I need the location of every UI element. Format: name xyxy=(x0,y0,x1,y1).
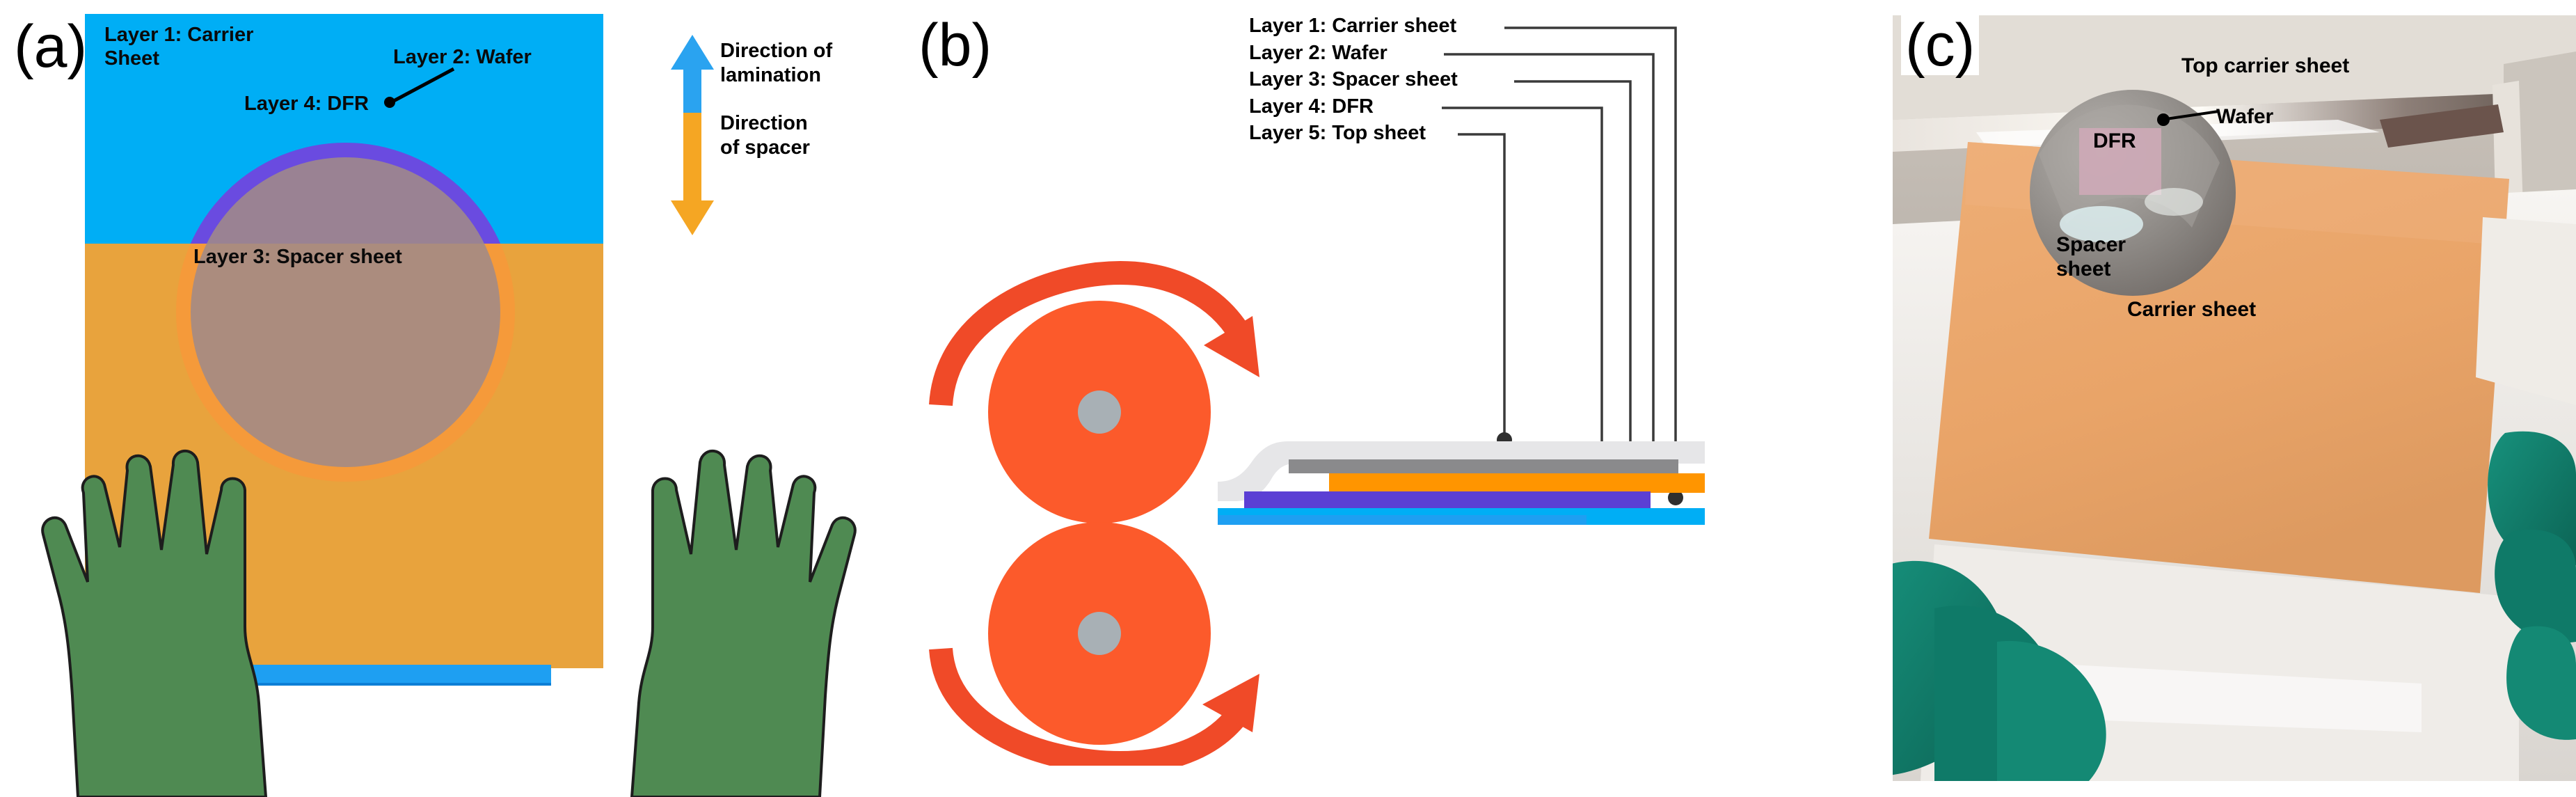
laminator-photograph: Top carrier sheet Wafer DFR Spacer sheet… xyxy=(1893,15,2576,781)
label-dfr-photo: DFR xyxy=(2093,129,2136,153)
wafer-layer xyxy=(1289,459,1678,473)
wafer-leader-dot xyxy=(384,97,395,108)
label-layer4-dfr: Layer 4: DFR xyxy=(244,92,369,116)
carrier-sheet-shadow xyxy=(1218,515,1587,525)
panel-b-illustration: Layer 1: Carrier sheet Layer 2: Wafer La… xyxy=(898,0,1893,797)
label-wafer-photo: Wafer xyxy=(2216,104,2273,129)
bottom-roller-hub xyxy=(1078,612,1121,655)
dfr-layer xyxy=(1244,491,1651,510)
gloved-hands xyxy=(0,418,898,797)
panel-a-illustration: Layer 1: Carrier Sheet Layer 2: Wafer La… xyxy=(0,0,898,797)
panel-b: (b) Layer 1: Carrier sheet Layer 2: Wafe… xyxy=(898,0,1893,797)
photo-content xyxy=(1893,15,2576,781)
label-top-carrier-sheet: Top carrier sheet xyxy=(2181,54,2349,78)
spacer-direction-arrow-icon xyxy=(668,111,717,237)
layer-stack xyxy=(1218,418,1705,529)
label-layer3-spacer-sheet: Layer 3: Spacer sheet xyxy=(193,245,402,269)
label-layer1-carrier-sheet: Layer 1: Carrier Sheet xyxy=(104,23,253,70)
lamination-direction-label: Direction of lamination xyxy=(720,39,832,88)
top-roller-hub xyxy=(1078,390,1121,434)
panel-c: (c) xyxy=(1893,0,2576,797)
panel-c-letter: (c) xyxy=(1901,15,1979,75)
label-spacer-sheet-photo: Spacer sheet xyxy=(2056,232,2126,282)
spacer-direction-label: Direction of spacer xyxy=(720,111,810,161)
spacer-sheet-layer xyxy=(1329,473,1705,493)
label-carrier-sheet-photo: Carrier sheet xyxy=(2127,297,2256,322)
panel-a: (a) Layer 1: Carrier Sheet Layer 2: Wafe… xyxy=(0,0,898,797)
